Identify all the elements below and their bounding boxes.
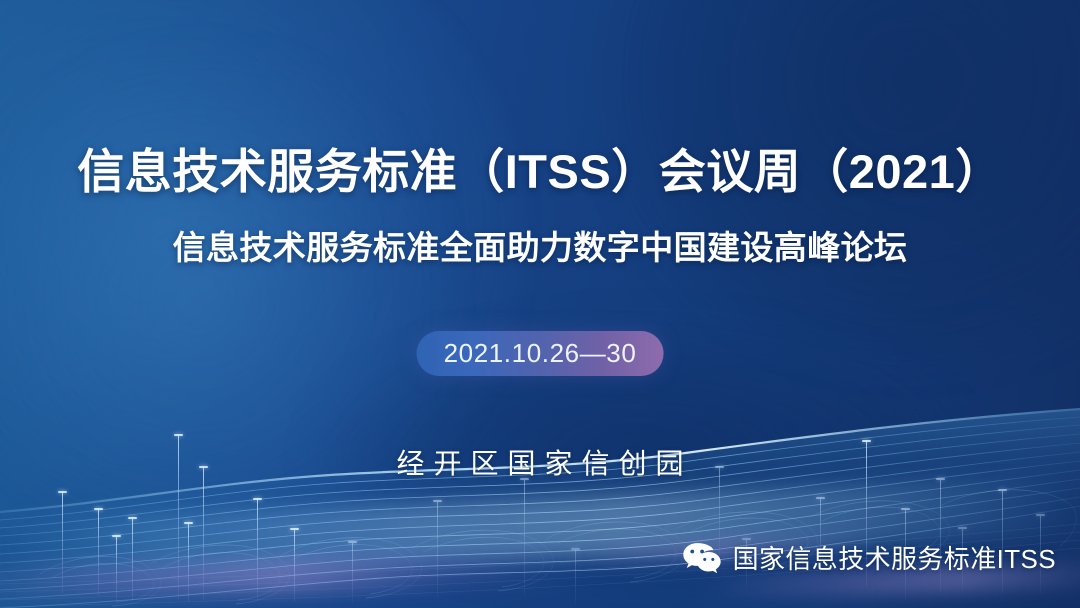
wechat-account-badge: 国家信息技术服务标准ITSS [682, 539, 1056, 576]
event-date-badge: 2021.10.26—30 [417, 331, 664, 376]
poster-main-title: 信息技术服务标准（ITSS）会议周（2021） [0, 146, 1080, 199]
poster-content: 信息技术服务标准（ITSS）会议周（2021） 信息技术服务标准全面助力数字中国… [0, 0, 1080, 608]
wechat-icon [682, 541, 722, 575]
wechat-account-name: 国家信息技术服务标准ITSS [733, 539, 1056, 576]
poster-subtitle: 信息技术服务标准全面助力数字中国建设高峰论坛 [0, 229, 1080, 267]
event-venue: 经开区国家信创园 [0, 442, 1080, 482]
event-date-text: 2021.10.26—30 [444, 338, 637, 369]
itss-conference-poster: 信息技术服务标准（ITSS）会议周（2021） 信息技术服务标准全面助力数字中国… [0, 0, 1080, 608]
